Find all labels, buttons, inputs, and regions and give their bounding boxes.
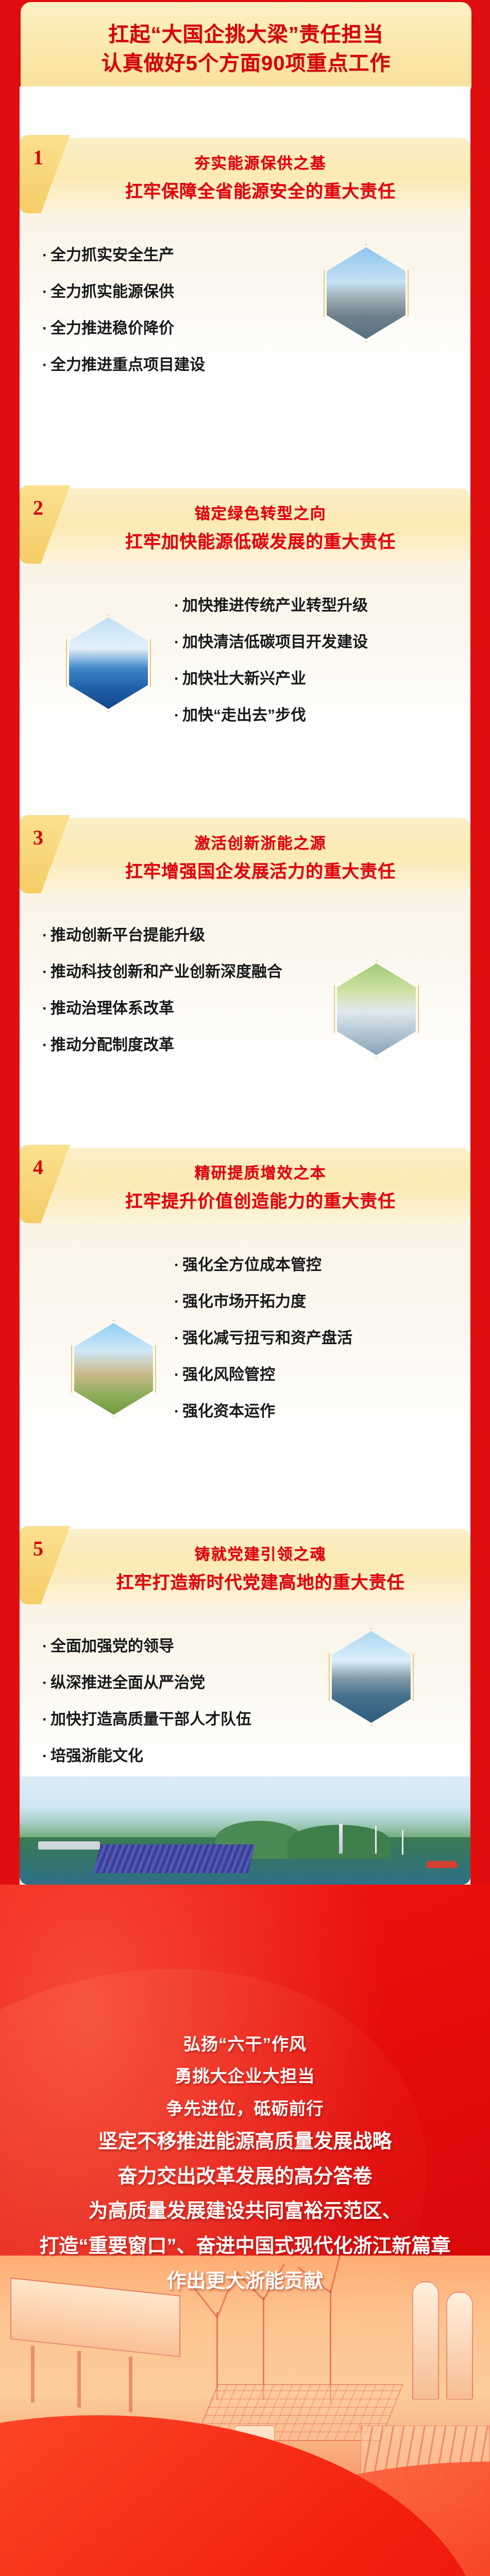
gas-station-photo bbox=[74, 1323, 153, 1415]
list-item: 纵深推进全面从严治党 bbox=[42, 1665, 205, 1701]
section-1-title-line-2: 扛牢保障全省能源安全的重大责任 bbox=[125, 177, 396, 202]
infographic-poster: 扛起“大国企挑大梁”责任担当 认真做好5个方面90项重点工作 1 夯实能源保供之… bbox=[0, 0, 490, 2576]
list-item: 加快“走出去”步伐 bbox=[174, 697, 306, 734]
list-item: 推动分配制度改革 bbox=[42, 1027, 174, 1063]
section-2-number: 2 bbox=[33, 498, 43, 518]
slogan-item: 争先进位，砥砺前行 bbox=[166, 2099, 324, 2118]
list-item: 强化市场开拓力度 bbox=[174, 1283, 306, 1320]
section-5-body: 全面加强党的领导 纵深推进全面从严治党 加快打造高质量干部人才队伍 培强浙能文化 bbox=[20, 1605, 470, 1770]
energy-landscape-panorama bbox=[20, 1776, 470, 1885]
poster-header-card: 扛起“大国企挑大梁”责任担当 认真做好5个方面90项重点工作 bbox=[21, 2, 471, 96]
section-2: 2 锚定绿色转型之向 扛牢加快能源低碳发展的重大责任 加快推进传统产业转型升级 … bbox=[20, 488, 470, 735]
section-5-title-line-1: 铸就党建引领之魂 bbox=[195, 1541, 327, 1564]
smokestack bbox=[339, 1824, 343, 1854]
storage-tank bbox=[446, 2292, 473, 2400]
thermal-power-plant-photo bbox=[327, 247, 405, 339]
list-item: 加快清洁低碳项目开发建设 bbox=[174, 624, 368, 660]
list-item: 推动治理体系改革 bbox=[42, 990, 174, 1027]
footer-slogan-section: 弘扬“六干”作风 勇挑大企业大担当 争先进位，砥砺前行 坚定不移推进能源高质量发… bbox=[0, 1885, 490, 2576]
header-title-line-1: 扛起“大国企挑大梁”责任担当 bbox=[109, 24, 384, 45]
list-item: 加快推进传统产业转型升级 bbox=[174, 587, 368, 624]
storage-tank bbox=[412, 2281, 439, 2400]
section-1-number: 1 bbox=[33, 147, 43, 168]
slogan-list: 弘扬“六干”作风 勇挑大企业大担当 争先进位，砥砺前行 坚定不移推进能源高质量发… bbox=[0, 1885, 490, 2293]
section-4-body: 强化全方位成本管控 强化市场开拓力度 强化减亏扭亏和资产盘活 强化风险管控 强化… bbox=[20, 1224, 470, 1446]
cargo-ship bbox=[427, 1861, 458, 1868]
section-1-body: 全力抓实安全生产 全力抓实能源保供 全力推进稳价降价 全力推进重点项目建设 bbox=[20, 214, 470, 374]
canopy-pillar bbox=[77, 2351, 81, 2408]
section-4-title-line-1: 精研提质增效之本 bbox=[195, 1160, 327, 1183]
section-5-header: 5 铸就党建引领之魂 扛牢打造新时代党建高地的重大责任 bbox=[20, 1529, 470, 1605]
section-4-title-line-2: 扛牢提升价值创造能力的重大责任 bbox=[125, 1187, 396, 1212]
section-3-title-line-1: 激活创新浙能之源 bbox=[195, 831, 327, 853]
list-item: 推动创新平台提能升级 bbox=[42, 917, 205, 954]
list-item: 加快打造高质量干部人才队伍 bbox=[42, 1701, 251, 1738]
section-3-number-badge: 3 bbox=[20, 815, 70, 893]
section-3-title-line-2: 扛牢增强国企发展活力的重大责任 bbox=[125, 857, 396, 883]
canopy-pillar bbox=[31, 2346, 35, 2402]
solar-field bbox=[93, 1844, 255, 1873]
header-title-line-2: 认真做好5个方面90项重点工作 bbox=[102, 53, 391, 74]
slogan-item: 为高质量发展建设共同富裕示范区、 bbox=[88, 2201, 401, 2223]
list-item: 全力抓实能源保供 bbox=[42, 274, 174, 310]
section-2-title-line-2: 扛牢加快能源低碳发展的重大责任 bbox=[125, 528, 396, 553]
section-1-title-line-1: 夯实能源保供之基 bbox=[195, 150, 327, 173]
section-3-body: 推动创新平台提能升级 推动科技创新和产业创新深度融合 推动治理体系改革 推动分配… bbox=[20, 894, 470, 1064]
list-item: 强化资本运作 bbox=[174, 1393, 275, 1430]
list-item: 强化全方位成本管控 bbox=[174, 1247, 322, 1283]
section-4-number-badge: 4 bbox=[20, 1145, 70, 1223]
wind-turbine bbox=[402, 1830, 403, 1855]
list-item: 加快壮大新兴产业 bbox=[174, 660, 306, 697]
wind-turbine bbox=[375, 1826, 377, 1854]
section-5-number-badge: 5 bbox=[20, 1526, 70, 1604]
list-item: 培强浙能文化 bbox=[42, 1738, 143, 1774]
list-item: 强化减亏扭亏和资产盘活 bbox=[174, 1320, 352, 1357]
section-5: 5 铸就党建引领之魂 扛牢打造新时代党建高地的重大责任 全面加强党的领导 纵深推… bbox=[20, 1529, 470, 1770]
section-2-number-badge: 2 bbox=[20, 485, 70, 564]
section-4: 4 精研提质增效之本 扛牢提升价值创造能力的重大责任 强化全方位成本管控 强化市… bbox=[20, 1148, 470, 1446]
gas-station-roof bbox=[38, 1841, 100, 1850]
slogan-item: 坚定不移推进能源高质量发展战略 bbox=[98, 2131, 392, 2153]
section-3: 3 激活创新浙能之源 扛牢增强国企发展活力的重大责任 推动创新平台提能升级 推动… bbox=[20, 818, 470, 1064]
section-1-number-badge: 1 bbox=[20, 135, 70, 213]
section-2-header: 2 锚定绿色转型之向 扛牢加快能源低碳发展的重大责任 bbox=[20, 488, 470, 565]
gas-storage-tanks-photo bbox=[337, 963, 416, 1055]
content-column: 1 夯实能源保供之基 扛牢保障全省能源安全的重大责任 全力抓实安全生产 全力抓实… bbox=[20, 87, 470, 1885]
slogan-item: 打造“重要窗口”、奋进中国式现代化浙江新篇章 bbox=[39, 2236, 450, 2258]
list-item: 全力推进稳价降价 bbox=[42, 310, 174, 347]
slogan-item: 勇挑大企业大担当 bbox=[175, 2067, 315, 2086]
section-3-header: 3 激活创新浙能之源 扛牢增强国企发展活力的重大责任 bbox=[20, 818, 470, 894]
section-1-header: 1 夯实能源保供之基 扛牢保障全省能源安全的重大责任 bbox=[20, 138, 470, 214]
slogan-item: 弘扬“六干”作风 bbox=[183, 2035, 307, 2054]
slogan-item: 作出更大浙能贡献 bbox=[166, 2271, 323, 2293]
section-2-body: 加快推进传统产业转型升级 加快清洁低碳项目开发建设 加快壮大新兴产业 加快“走出… bbox=[20, 565, 470, 735]
section-2-title-line-1: 锚定绿色转型之向 bbox=[195, 501, 327, 523]
offshore-wind-farm-photo bbox=[69, 617, 148, 709]
list-item: 强化风险管控 bbox=[174, 1357, 275, 1393]
list-item: 全力推进重点项目建设 bbox=[42, 347, 205, 383]
list-item: 全力抓实安全生产 bbox=[42, 237, 174, 274]
section-1: 1 夯实能源保供之基 扛牢保障全省能源安全的重大责任 全力抓实安全生产 全力抓实… bbox=[20, 138, 470, 374]
canopy-pillar bbox=[129, 2357, 132, 2412]
coastal-port-terminal-photo bbox=[332, 1631, 411, 1723]
section-4-number: 4 bbox=[33, 1157, 43, 1178]
section-3-number: 3 bbox=[33, 827, 43, 848]
list-item: 全面加强党的领导 bbox=[42, 1628, 174, 1665]
list-item: 推动科技创新和产业创新深度融合 bbox=[42, 954, 282, 990]
section-4-header: 4 精研提质增效之本 扛牢提升价值创造能力的重大责任 bbox=[20, 1148, 470, 1224]
section-5-number: 5 bbox=[33, 1538, 43, 1559]
slogan-item: 奋力交出改革发展的高分答卷 bbox=[117, 2166, 372, 2188]
section-5-title-line-2: 扛牢打造新时代党建高地的重大责任 bbox=[116, 1568, 405, 1594]
